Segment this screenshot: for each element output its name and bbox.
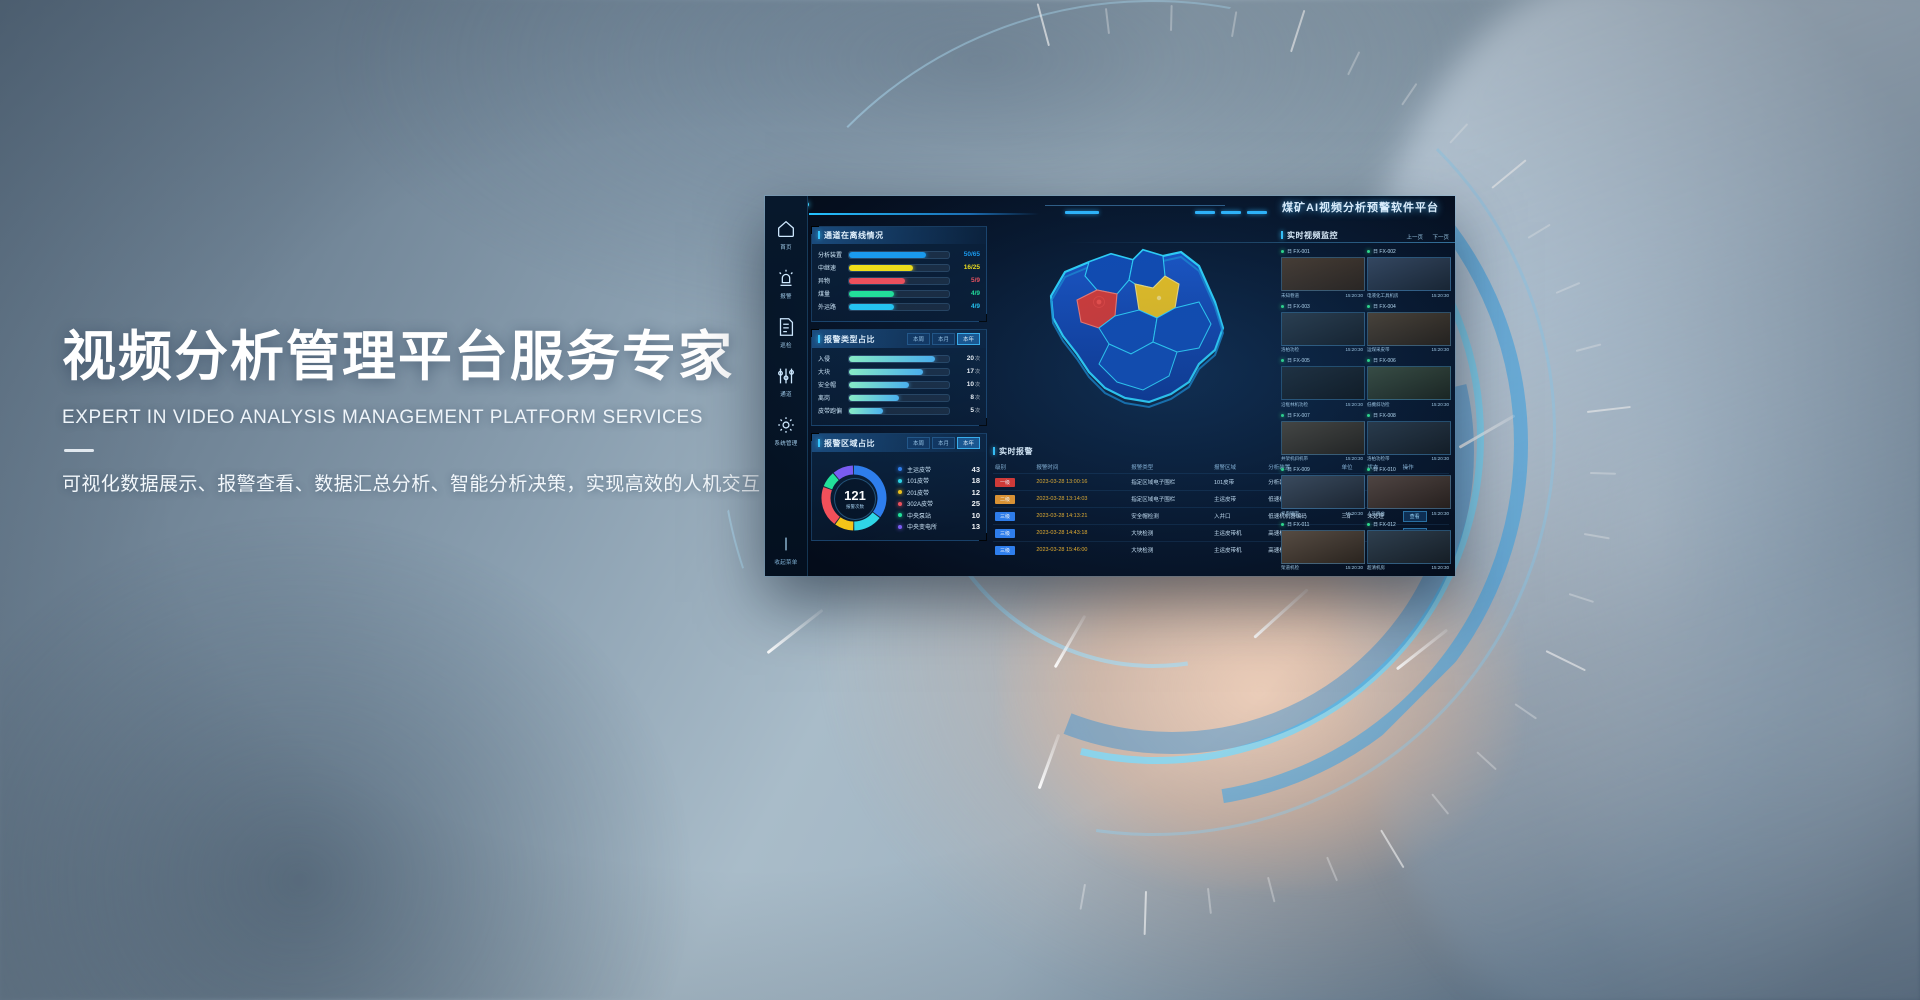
alarm-level: 三级 — [993, 542, 1034, 559]
home-icon — [775, 218, 797, 240]
channel-value: 5/9 — [950, 277, 980, 284]
channel-value: 4/9 — [950, 303, 980, 310]
video-cell-caption: 低機斜功检15:20:30 — [1367, 402, 1449, 408]
alarm-time: 2023-03-28 13:00:16 — [1034, 474, 1129, 491]
video-cell-name: 日 FX-002 — [1373, 248, 1396, 255]
channel-status-card: 通道在离线情况 分析装置50/65中继速16/25异物5/9煤量4/9外运路4/… — [811, 226, 987, 322]
alarm-area-tabs[interactable]: 本周本月本年 — [907, 437, 980, 449]
alarm-type-row: 离岗8次 — [818, 393, 980, 402]
online-dot-icon — [1281, 250, 1284, 253]
legend-label: 中央变电所 — [907, 522, 972, 531]
video-thumbnail[interactable] — [1281, 475, 1365, 509]
sidebar-label-channel: 通道 — [765, 390, 807, 398]
video-cell-header: 日 FX-007 — [1281, 412, 1363, 419]
video-cell-header: 日 FX-001 — [1281, 248, 1363, 255]
channel-label: 异物 — [818, 276, 848, 285]
alarm-type-cell: 大块检测 — [1129, 525, 1212, 542]
alarm-type-bar-fill — [849, 382, 909, 388]
alarm-col-header: 报警区域 — [1212, 461, 1266, 474]
alarm-type-card: 报警类型占比 本周本月本年 入侵20次大块17次安全帽10次离岗8次皮带跑偏5次 — [811, 329, 987, 426]
alarm-area-cell: 主运皮带机 — [1212, 525, 1266, 542]
map-svg — [993, 226, 1275, 440]
alarm-icon — [775, 267, 797, 289]
channel-value: 50/65 — [950, 251, 980, 258]
donut-center-label: 报警次数 — [846, 504, 864, 510]
alarm-type-bar-track — [848, 355, 950, 363]
video-cell-caption: 沿框林机功检15:20:30 — [1281, 402, 1363, 408]
video-cell[interactable]: 日 FX-002电液化工具机房15:20:30 — [1367, 248, 1449, 299]
channel-bar-fill — [849, 252, 926, 258]
alarm-col-header: 报警时间 — [1034, 461, 1129, 474]
china-province-map[interactable] — [993, 226, 1275, 440]
hero-subtitle-en: EXPERT IN VIDEO ANALYSIS MANAGEMENT PLAT… — [62, 407, 822, 429]
alarm-type-cell: 大块检测 — [1129, 542, 1212, 559]
alarm-type-row: 入侵20次 — [818, 354, 980, 363]
alarm-time: 2023-03-28 14:13:21 — [1034, 508, 1129, 525]
video-monitor-panel: 实时视频监控 上一页 下一页 日 FX-001未知巷道15:20:30日 FX-… — [1281, 226, 1449, 571]
video-cell-caption: 未知巷道15:20:30 — [1281, 293, 1363, 299]
video-cell[interactable]: 日 FX-001未知巷道15:20:30 — [1281, 248, 1363, 299]
alarm-type-bar-fill — [849, 356, 935, 362]
video-location: 运煤采皮带 — [1367, 347, 1390, 353]
video-thumbnail[interactable] — [1281, 257, 1365, 291]
legend-item: 101皮带18 — [898, 476, 980, 485]
video-cell[interactable]: 日 FX-009机电硐室15:20:30 — [1281, 466, 1363, 517]
donut-chart: 121 报警次数 — [818, 462, 890, 534]
video-time: 15:20:30 — [1431, 511, 1449, 517]
video-thumbnail[interactable] — [1281, 530, 1365, 564]
online-dot-icon — [1367, 468, 1370, 471]
donut-slice — [837, 470, 854, 476]
channel-label: 分析装置 — [818, 250, 848, 259]
video-cell-caption: 运煤采皮带15:20:30 — [1367, 347, 1449, 353]
alarm-area-card: 报警区域占比 本周本月本年 121 报警次数 主运皮带43101皮带18201皮… — [811, 433, 987, 541]
video-cell-name: 日 FX-009 — [1287, 466, 1310, 473]
channel-value: 4/9 — [950, 290, 980, 297]
video-thumbnail[interactable] — [1281, 421, 1365, 455]
video-cell-caption: 井架机斜机带15:20:30 — [1281, 456, 1363, 462]
channel-status-row: 煤量4/9 — [818, 289, 980, 298]
video-thumbnail[interactable] — [1367, 475, 1451, 509]
alarm-level: 二级 — [993, 491, 1034, 508]
hero-divider — [64, 449, 94, 452]
video-cell[interactable]: 日 FX-005沿框林机功检15:20:30 — [1281, 357, 1363, 408]
channel-value: 16/25 — [950, 264, 980, 271]
video-time: 15:20:30 — [1431, 293, 1449, 299]
alarm-type-bar-track — [848, 381, 950, 389]
video-cell[interactable]: 日 FX-006低機斜功检15:20:30 — [1367, 357, 1449, 408]
video-location: 电液化工具机房 — [1367, 293, 1399, 299]
alarm-type-header: 报警类型占比 本周本月本年 — [812, 330, 986, 348]
video-cell-header: 日 FX-009 — [1281, 466, 1363, 473]
video-cell-name: 日 FX-010 — [1373, 466, 1396, 473]
video-grid: 日 FX-001未知巷道15:20:30日 FX-002电液化工具机房15:20… — [1281, 248, 1449, 571]
online-dot-icon — [1281, 468, 1284, 471]
hero-description: 可视化数据展示、报警查看、数据汇总分析、智能分析决策，实现高效的人机交互 — [62, 470, 822, 500]
alarm-area-cell: 入井口 — [1212, 508, 1266, 525]
alarm-type-label: 安全帽 — [818, 380, 848, 389]
channel-status-header: 通道在离线情况 — [812, 227, 986, 244]
online-dot-icon — [1367, 414, 1370, 417]
video-cell-name: 日 FX-005 — [1287, 357, 1310, 364]
online-dot-icon — [1367, 359, 1370, 362]
dashboard-title: 煤矿AI视频分析预警软件平台 — [1282, 199, 1439, 215]
tab-本年[interactable]: 本年 — [957, 333, 980, 345]
video-cell-caption: 架道机检15:20:30 — [1281, 565, 1363, 571]
video-location: 超清机房 — [1367, 565, 1385, 571]
alarm-area-title: 报警区域占比 — [818, 438, 875, 449]
donut-legend: 主运皮带43101皮带18201皮带12302A皮带25中央泵站10中央变电所1… — [890, 462, 980, 534]
video-cell-caption: 人员廊台15:20:30 — [1367, 511, 1449, 517]
legend-dot — [898, 490, 902, 494]
video-cell-name: 日 FX-001 — [1287, 248, 1310, 255]
legend-item: 201皮带12 — [898, 488, 980, 497]
video-cell[interactable]: 日 FX-012超清机房15:20:30 — [1367, 521, 1449, 572]
video-cell-name: 日 FX-003 — [1287, 303, 1310, 310]
alarm-type-label: 皮带跑偏 — [818, 406, 848, 415]
video-thumbnail[interactable] — [1367, 530, 1451, 564]
channel-bar-track — [848, 303, 950, 311]
video-cell-header: 日 FX-005 — [1281, 357, 1363, 364]
legend-value: 10 — [972, 511, 980, 520]
video-next-page[interactable]: 下一页 — [1432, 235, 1449, 241]
alarm-area-chart: 121 报警次数 主运皮带43101皮带18201皮带12302A皮带25中央泵… — [818, 458, 980, 534]
alarm-type-row: 大块17次 — [818, 367, 980, 376]
sidebar-item-inspection[interactable]: 巡检 — [765, 316, 807, 349]
video-cell-header: 日 FX-003 — [1281, 303, 1363, 310]
alarm-type-bar-fill — [849, 395, 899, 401]
video-cell-header: 日 FX-006 — [1367, 357, 1449, 364]
legend-label: 302A皮带 — [907, 499, 972, 508]
video-cell[interactable]: 日 FX-004运煤采皮带15:20:30 — [1367, 303, 1449, 354]
alarm-time: 2023-03-28 15:46:00 — [1034, 542, 1129, 559]
video-cell-caption: 洛柏功检15:20:30 — [1281, 347, 1363, 353]
alarm-type-bar-track — [848, 394, 950, 402]
online-dot-icon — [1281, 305, 1284, 308]
video-time: 15:20:30 — [1345, 347, 1363, 353]
video-cell-name: 日 FX-008 — [1373, 412, 1396, 419]
alarm-type-bar-fill — [849, 408, 883, 414]
video-monitor-header: 实时视频监控 上一页 下一页 — [1281, 226, 1449, 244]
sidebar-item-home[interactable]: 首页 — [765, 218, 807, 251]
alarm-type-tabs[interactable]: 本周本月本年 — [907, 333, 980, 345]
sidebar-item-alarm[interactable]: 报警 — [765, 267, 807, 300]
video-time: 15:20:30 — [1431, 347, 1449, 353]
channel-bar-track — [848, 264, 950, 272]
online-dot-icon — [1367, 305, 1370, 308]
alarm-type-cell: 安全帽检测 — [1129, 508, 1212, 525]
donut-center: 121 报警次数 — [834, 478, 876, 520]
channel-icon — [775, 365, 797, 387]
alarm-type-label: 离岗 — [818, 393, 848, 402]
video-cell[interactable]: 日 FX-010人员廊台15:20:30 — [1367, 466, 1449, 517]
alarm-area-cell: 主运皮带机 — [1212, 542, 1266, 559]
video-time: 15:20:30 — [1345, 456, 1363, 462]
alarm-type-label: 大块 — [818, 367, 848, 376]
dashboard-sidebar: 首页 报警 巡检 通道 — [765, 196, 808, 576]
alarm-level: 三级 — [993, 508, 1034, 525]
video-cell-name: 日 FX-004 — [1373, 303, 1396, 310]
legend-item: 主运皮带43 — [898, 465, 980, 474]
video-time: 15:20:30 — [1345, 402, 1363, 408]
alarm-level: 三级 — [993, 525, 1034, 542]
online-dot-icon — [1281, 359, 1284, 362]
legend-item: 中央变电所13 — [898, 522, 980, 531]
donut-center-value: 121 — [844, 489, 866, 502]
video-cell[interactable]: 日 FX-011架道机检15:20:30 — [1281, 521, 1363, 572]
video-cell[interactable]: 日 FX-007井架机斜机带15:20:30 — [1281, 412, 1363, 463]
video-pager: 上一页 下一页 — [1402, 226, 1449, 244]
donut-slice — [838, 521, 853, 526]
online-dot-icon — [1367, 250, 1370, 253]
channel-status-row: 外运路4/9 — [818, 302, 980, 311]
topbar-line-secondary — [1045, 205, 1225, 206]
video-cell-header: 日 FX-011 — [1281, 521, 1363, 528]
dashboard-screenshot: 煤矿AI视频分析预警软件平台 首页 报警 巡检 — [765, 196, 1455, 576]
alarm-type-row: 安全帽10次 — [818, 380, 980, 389]
legend-value: 25 — [972, 499, 980, 508]
alarm-col-header: 级别 — [993, 461, 1034, 474]
video-thumbnail[interactable] — [1281, 366, 1365, 400]
video-location: 低機斜功检 — [1367, 402, 1390, 408]
sidebar-item-system[interactable]: 系统管理 — [765, 414, 807, 447]
channel-bar-track — [848, 277, 950, 285]
alarm-type-value: 20次 — [950, 355, 980, 362]
video-time: 15:20:30 — [1431, 565, 1449, 571]
alarm-type-row: 皮带跑偏5次 — [818, 406, 980, 415]
legend-item: 中央泵站10 — [898, 511, 980, 520]
video-cell-header: 日 FX-008 — [1367, 412, 1449, 419]
video-cell-name: 日 FX-011 — [1287, 521, 1309, 528]
alarm-time: 2023-03-28 13:14:03 — [1034, 491, 1129, 508]
sidebar-item-channel[interactable]: 通道 — [765, 365, 807, 398]
alarm-type-value: 10次 — [950, 381, 980, 388]
video-cell-header: 日 FX-002 — [1367, 248, 1449, 255]
alarm-type-bar-track — [848, 368, 950, 376]
video-time: 15:20:30 — [1345, 565, 1363, 571]
legend-value: 13 — [972, 522, 980, 531]
legend-label: 中央泵站 — [907, 511, 972, 520]
video-location: 机电硐室 — [1281, 511, 1299, 517]
legend-value: 12 — [972, 488, 980, 497]
legend-item: 302A皮带25 — [898, 499, 980, 508]
video-location: 沿框林机功检 — [1281, 402, 1308, 408]
settings-icon — [775, 414, 797, 436]
video-time: 15:20:30 — [1345, 293, 1363, 299]
topbar-line — [809, 213, 1039, 215]
video-location: 人员廊台 — [1367, 511, 1385, 517]
legend-dot — [898, 479, 902, 483]
legend-value: 43 — [972, 465, 980, 474]
online-dot-icon — [1367, 523, 1370, 526]
channel-label: 中继速 — [818, 263, 848, 272]
video-thumbnail[interactable] — [1281, 312, 1365, 346]
video-cell-name: 日 FX-006 — [1373, 357, 1396, 364]
collapse-icon — [775, 533, 797, 555]
channel-bar-fill — [849, 265, 913, 271]
video-thumbnail[interactable] — [1367, 257, 1451, 291]
tab-本月[interactable]: 本月 — [932, 437, 955, 449]
sidebar-label-collapse: 收起菜单 — [765, 558, 807, 566]
alarm-col-header: 报警类型 — [1129, 461, 1212, 474]
video-time: 15:20:30 — [1431, 456, 1449, 462]
legend-label: 主运皮带 — [907, 465, 972, 474]
sidebar-label-alarm: 报警 — [765, 292, 807, 300]
video-cell-header: 日 FX-010 — [1367, 466, 1449, 473]
video-cell-header: 日 FX-012 — [1367, 521, 1449, 528]
alarm-area-cell: 主运皮带 — [1212, 491, 1266, 508]
legend-value: 18 — [972, 476, 980, 485]
channel-label: 外运路 — [818, 302, 848, 311]
video-cell-caption: 超清机房15:20:30 — [1367, 565, 1449, 571]
channel-bar-track — [848, 251, 950, 259]
legend-dot — [898, 525, 902, 529]
video-time: 15:20:30 — [1431, 402, 1449, 408]
alarm-type-label: 入侵 — [818, 354, 848, 363]
channel-label: 煤量 — [818, 289, 848, 298]
alarm-time: 2023-03-28 14:43:18 — [1034, 525, 1129, 542]
video-cell-caption: 机电硐室15:20:30 — [1281, 511, 1363, 517]
background-hand — [1000, 560, 1520, 890]
channel-bar-fill — [849, 278, 905, 284]
channel-status-row: 异物5/9 — [818, 276, 980, 285]
video-location: 井架机斜机带 — [1281, 456, 1308, 462]
legend-dot — [898, 467, 902, 471]
alarm-type-value: 17次 — [950, 368, 980, 375]
tab-本周[interactable]: 本周 — [907, 437, 930, 449]
channel-status-row: 分析装置50/65 — [818, 250, 980, 259]
video-cell-caption: 洛柏功检带15:20:30 — [1367, 456, 1449, 462]
legend-label: 101皮带 — [907, 476, 972, 485]
channel-status-title: 通道在离线情况 — [818, 230, 884, 241]
dashboard-topbar: 煤矿AI视频分析预警软件平台 — [765, 196, 1455, 222]
video-cell-caption: 电液化工具机房15:20:30 — [1367, 293, 1449, 299]
video-thumbnail[interactable] — [1367, 421, 1451, 455]
sidebar-label-inspection: 巡检 — [765, 341, 807, 349]
video-monitor-title: 实时视频监控 — [1281, 230, 1338, 241]
video-cell-name: 日 FX-012 — [1373, 521, 1396, 528]
video-location: 洛柏功检 — [1281, 347, 1299, 353]
inspection-icon — [775, 316, 797, 338]
page-title: 视频分析管理平台服务专家 — [62, 326, 822, 389]
online-dot-icon — [1281, 414, 1284, 417]
video-location: 架道机检 — [1281, 565, 1299, 571]
video-location: 未知巷道 — [1281, 293, 1299, 299]
video-cell-name: 日 FX-007 — [1287, 412, 1310, 419]
video-location: 洛柏功检带 — [1367, 456, 1390, 462]
channel-bar-fill — [849, 291, 894, 297]
video-cell-header: 日 FX-004 — [1367, 303, 1449, 310]
alarm-type-title: 报警类型占比 — [818, 334, 875, 345]
alarm-type-value: 8次 — [950, 394, 980, 401]
legend-dot — [898, 513, 902, 517]
tab-本年[interactable]: 本年 — [957, 437, 980, 449]
sidebar-collapse[interactable]: 收起菜单 — [765, 533, 807, 566]
video-thumbnail[interactable] — [1367, 366, 1451, 400]
alarm-type-bar-track — [848, 407, 950, 415]
channel-bar-track — [848, 290, 950, 298]
legend-label: 201皮带 — [907, 488, 972, 497]
alarm-area-header: 报警区域占比 本周本月本年 — [812, 434, 986, 452]
alarm-type-cell: 指定区域电子围栏 — [1129, 491, 1212, 508]
sidebar-label-system: 系统管理 — [765, 439, 807, 447]
sidebar-label-home: 首页 — [765, 243, 807, 251]
channel-bar-fill — [849, 304, 894, 310]
alarm-type-value: 5次 — [950, 407, 980, 414]
alarm-type-bar-fill — [849, 369, 923, 375]
donut-slice — [828, 477, 836, 488]
left-column: 通道在离线情况 分析装置50/65中继速16/25异物5/9煤量4/9外运路4/… — [811, 226, 987, 548]
channel-status-row: 中继速16/25 — [818, 263, 980, 272]
hero-copy: 视频分析管理平台服务专家 EXPERT IN VIDEO ANALYSIS MA… — [62, 326, 822, 500]
video-time: 15:20:30 — [1345, 511, 1363, 517]
legend-dot — [898, 502, 902, 506]
alarm-type-rows: 入侵20次大块17次安全帽10次离岗8次皮带跑偏5次 — [818, 354, 980, 415]
hero-banner: 视频分析管理平台服务专家 EXPERT IN VIDEO ANALYSIS MA… — [0, 0, 1920, 1000]
video-prev-page[interactable]: 上一页 — [1407, 235, 1424, 241]
video-thumbnail[interactable] — [1367, 312, 1451, 346]
tab-本月[interactable]: 本月 — [932, 333, 955, 345]
video-cell[interactable]: 日 FX-003洛柏功检15:20:30 — [1281, 303, 1363, 354]
video-cell[interactable]: 日 FX-008洛柏功检带15:20:30 — [1367, 412, 1449, 463]
alarm-area-cell: 101皮带 — [1212, 474, 1266, 491]
online-dot-icon — [1281, 523, 1284, 526]
alarm-level: 一级 — [993, 474, 1034, 491]
alarm-type-cell: 指定区域电子围栏 — [1129, 474, 1212, 491]
realtime-alarm-title: 实时报警 — [993, 446, 1033, 457]
channel-status-rows: 分析装置50/65中继速16/25异物5/9煤量4/9外运路4/9 — [818, 250, 980, 311]
tab-本周[interactable]: 本周 — [907, 333, 930, 345]
